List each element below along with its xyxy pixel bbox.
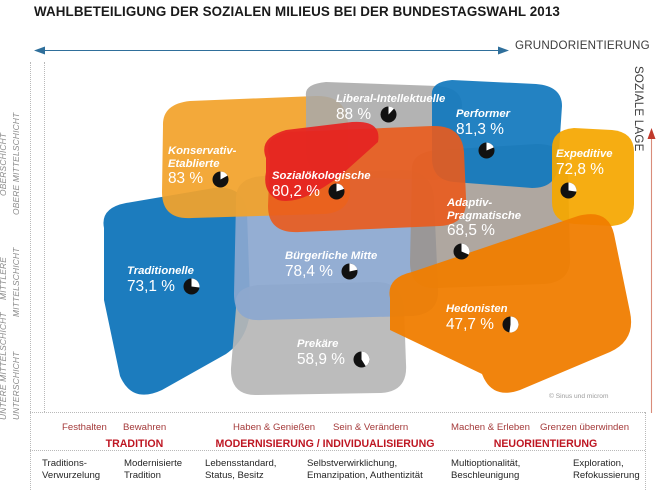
legend-orientation-0: Festhalten xyxy=(62,422,107,433)
bubble-expeditive[interactable] xyxy=(552,128,634,226)
legend-desc-4: Multioptionalität, Beschleunigung xyxy=(451,458,520,481)
legend-orientation-3: Sein & Verändern xyxy=(333,422,408,433)
legend-orientation-4: Machen & Erleben xyxy=(451,422,530,433)
legend-orientation-5: Grenzen überwinden xyxy=(540,422,629,433)
legend-group-modernisierung: MODERNISIERUNG / INDIVIDUALISIERUNG xyxy=(208,438,442,450)
legend-desc-5: Exploration, Refokussierung xyxy=(573,458,640,481)
bubble-traditionelle[interactable] xyxy=(103,188,250,395)
credit-text: © Sinus und microm xyxy=(549,393,608,400)
legend-orientation-1: Bewahren xyxy=(123,422,166,433)
legend-desc-1: Modernisierte Tradition xyxy=(124,458,182,481)
legend-desc-0: Traditions- Verwurzelung xyxy=(42,458,100,481)
legend-desc-3: Selbstverwirklichung, Emanzipation, Auth… xyxy=(307,458,423,481)
legend-desc-2: Lebensstandard, Status, Besitz xyxy=(205,458,276,481)
legend-orientation-2: Haben & Genießen xyxy=(233,422,315,433)
legend-group-neuorientierung: NEUORIENTIERUNG xyxy=(448,438,643,450)
infographic-canvas: WAHLBETEILIGUNG DER SOZIALEN MILIEUS BEI… xyxy=(0,0,668,493)
legend: Festhalten Bewahren Haben & Genießen Sei… xyxy=(30,416,645,490)
legend-group-tradition: TRADITION xyxy=(62,438,207,450)
